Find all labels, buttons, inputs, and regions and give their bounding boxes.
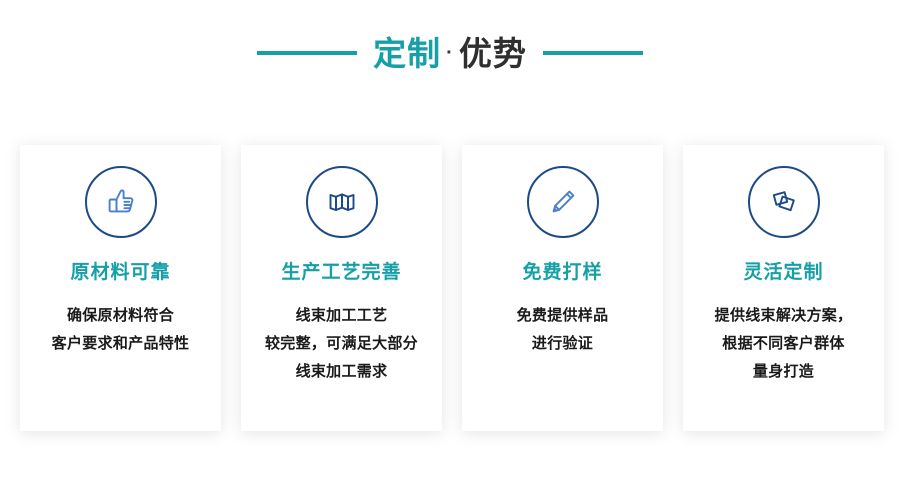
section-heading: 定制 · 优势: [0, 22, 900, 84]
thumbs-up-icon: [101, 182, 141, 222]
card-body: 确保原材料符合 客户要求和产品特性: [52, 302, 190, 358]
page-title: 定制 · 优势: [373, 37, 527, 70]
stacked-sheets-icon: [764, 182, 804, 222]
card-body-line: 线束加工工艺: [265, 302, 418, 330]
feature-card-raw-material[interactable]: 原材料可靠 确保原材料符合 客户要求和产品特性: [20, 145, 221, 431]
icon-ring: [748, 166, 820, 238]
card-title: 灵活定制: [743, 262, 823, 285]
card-body: 提供线束解决方案， 根据不同客户群体 量身打造: [715, 302, 853, 386]
card-body-line: 提供线束解决方案，: [715, 302, 853, 330]
card-title: 原材料可靠: [70, 262, 170, 285]
card-body-line: 线束加工需求: [265, 358, 418, 386]
folded-map-icon: [322, 182, 362, 222]
feature-card-production-process[interactable]: 生产工艺完善 线束加工工艺 较完整，可满足大部分 线束加工需求: [241, 145, 442, 431]
page-title-separator: ·: [441, 43, 459, 63]
feature-card-row: 原材料可靠 确保原材料符合 客户要求和产品特性 生产工艺完善 线束加工工艺 较完…: [20, 145, 884, 431]
card-body-line: 客户要求和产品特性: [52, 330, 190, 358]
card-body: 线束加工工艺 较完整，可满足大部分 线束加工需求: [265, 302, 418, 386]
card-body-line: 免费提供样品: [517, 302, 609, 330]
feature-card-flexible-customization[interactable]: 灵活定制 提供线束解决方案， 根据不同客户群体 量身打造: [683, 145, 884, 431]
card-title: 生产工艺完善: [281, 262, 401, 285]
card-body-line: 量身打造: [715, 358, 853, 386]
pencil-icon: [543, 182, 583, 222]
heading-rule-right: [543, 51, 643, 55]
card-body-line: 根据不同客户群体: [715, 330, 853, 358]
card-body-line: 较完整，可满足大部分: [265, 330, 418, 358]
card-body-line: 确保原材料符合: [52, 302, 190, 330]
icon-ring: [85, 166, 157, 238]
card-body-line: 进行验证: [517, 330, 609, 358]
icon-ring: [306, 166, 378, 238]
feature-card-free-sample[interactable]: 免费打样 免费提供样品 进行验证: [462, 145, 663, 431]
page-title-dark: 优势: [459, 37, 527, 70]
heading-rule-left: [257, 51, 357, 55]
icon-ring: [527, 166, 599, 238]
page-title-accent: 定制: [373, 37, 441, 70]
card-title: 免费打样: [522, 262, 602, 285]
card-body: 免费提供样品 进行验证: [517, 302, 609, 358]
